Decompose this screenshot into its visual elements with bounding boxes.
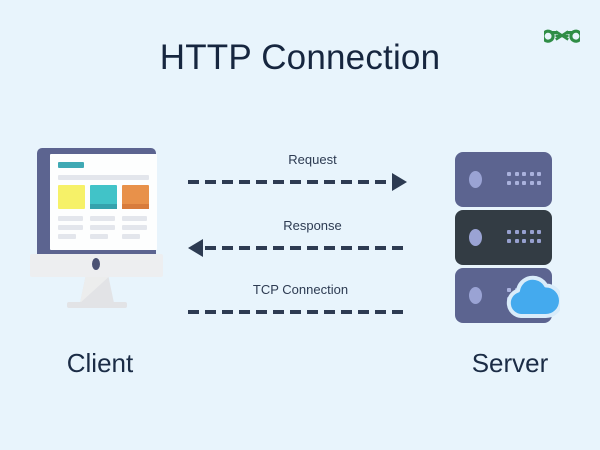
monitor-base (67, 302, 127, 308)
screen-card-yellow (58, 185, 85, 209)
page-title: HTTP Connection (0, 38, 600, 78)
server-illustration (455, 152, 565, 332)
server-label: Server (440, 348, 580, 379)
screen-text-line (58, 175, 149, 180)
monitor-bezel (37, 148, 156, 257)
server-led-icon (469, 287, 482, 304)
diagram-canvas: HTTP Connection (0, 0, 600, 450)
screen-card-orange-shade (122, 204, 149, 209)
flow-tcp-connection: TCP Connection (185, 282, 410, 328)
screen-text-line (90, 234, 108, 239)
server-unit-middle (455, 210, 552, 265)
screen-text-line (122, 216, 147, 221)
screen-card-teal-shade (90, 204, 117, 209)
server-unit-top (455, 152, 552, 207)
cloud-icon (505, 272, 560, 320)
client-illustration (30, 148, 170, 333)
server-dot-grid (507, 172, 543, 188)
screen-text-line (58, 234, 76, 239)
flow-tcp-label: TCP Connection (185, 282, 410, 297)
webcam-dot-icon (92, 258, 100, 270)
server-dot-grid (507, 230, 543, 246)
server-led-icon (469, 229, 482, 246)
flow-request: Request (185, 152, 410, 198)
client-label: Client (20, 348, 180, 379)
server-led-icon (469, 171, 482, 188)
screen-text-line (90, 225, 115, 230)
flow-tcp-line (188, 310, 408, 314)
screen-text-line (122, 225, 147, 230)
screen-text-line (122, 234, 140, 239)
arrow-right-icon (392, 173, 407, 191)
flow-request-line (188, 180, 390, 184)
arrow-left-icon (188, 239, 203, 257)
flow-response: Response (185, 218, 410, 264)
flow-response-label: Response (185, 218, 410, 233)
monitor-screen (50, 154, 157, 250)
screen-heading-bar (58, 162, 84, 168)
screen-text-line (58, 216, 83, 221)
flow-request-label: Request (185, 152, 410, 167)
screen-text-line (58, 225, 83, 230)
flow-response-line (205, 246, 408, 250)
screen-text-line (90, 216, 115, 221)
